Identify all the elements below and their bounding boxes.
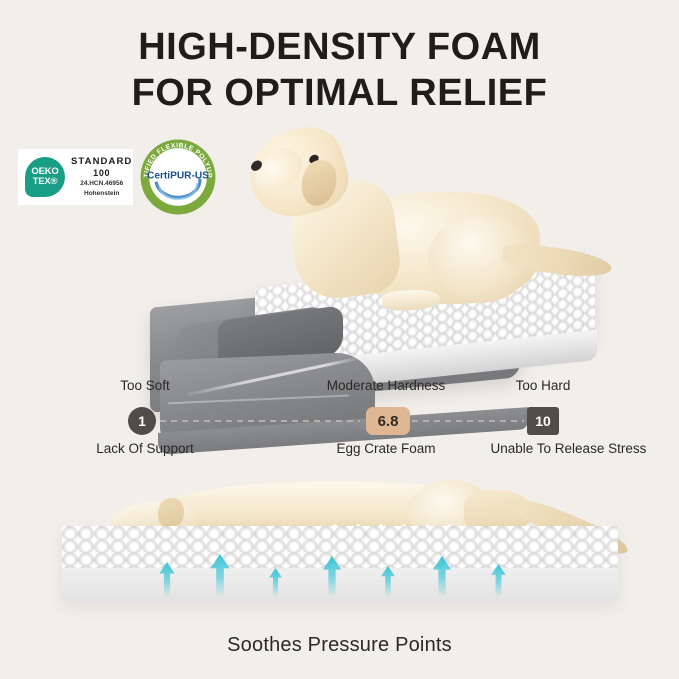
scale-label-too-hard: Too Hard — [516, 378, 571, 393]
scale-track: 1 6.8 10 — [0, 406, 679, 436]
scale-label-unable-to-release-stress: Unable To Release Stress — [491, 440, 596, 458]
scale-dashed-line-left — [160, 420, 360, 422]
pressure-arrow-icon — [322, 556, 342, 596]
headline-line-2: FOR OPTIMAL RELIEF — [0, 70, 679, 116]
pressure-arrow-icon — [432, 556, 452, 596]
pressure-arrow-icon — [268, 568, 283, 596]
scale-top-labels: Too Soft Moderate Hardness Too Hard — [0, 378, 679, 400]
hardness-scale: Too Soft Moderate Hardness Too Hard 1 6.… — [0, 378, 679, 478]
dog-photo — [230, 120, 580, 335]
scale-label-too-soft: Too Soft — [120, 378, 170, 393]
scale-label-moderate-hardness: Moderate Hardness — [327, 378, 446, 393]
pressure-arrow-icon — [490, 564, 507, 596]
pressure-arrow-icon — [380, 566, 396, 596]
bottom-caption: Soothes Pressure Points — [0, 634, 679, 657]
scale-dashed-line-right — [412, 420, 524, 422]
headline-line-1: HIGH-DENSITY FOAM — [138, 26, 541, 68]
scale-marker-1: 1 — [128, 407, 156, 435]
scale-marker-10: 10 — [527, 407, 559, 435]
pressure-arrows — [0, 552, 679, 614]
dog-muzzle — [247, 141, 310, 203]
scale-label-lack-of-support: Lack Of Support — [96, 440, 194, 458]
page-title: HIGH-DENSITY FOAM FOR OPTIMAL RELIEF — [0, 24, 679, 117]
scale-marker-68: 6.8 — [366, 407, 410, 435]
pressure-arrow-icon — [210, 554, 230, 596]
hero-product-image — [0, 120, 679, 370]
pressure-arrow-icon — [158, 562, 176, 596]
scale-bottom-labels: Lack Of Support Egg Crate Foam Unable To… — [0, 440, 679, 480]
dog-paw — [381, 288, 440, 312]
scale-label-egg-crate-foam: Egg Crate Foam — [336, 440, 435, 458]
pressure-relief-illustration — [0, 478, 679, 623]
